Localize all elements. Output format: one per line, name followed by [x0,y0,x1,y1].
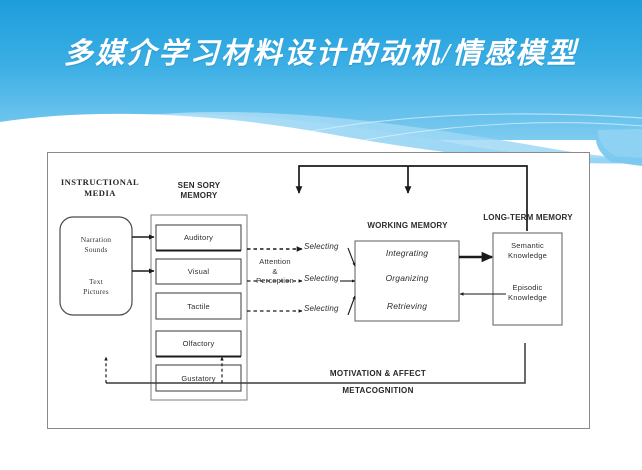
page-title: 多媒介学习材料设计的动机/情感模型 [0,30,642,72]
heading-sensory-memory: SEN SORY MEMORY [154,181,244,201]
working-memory-item-organizing: Organizing [358,273,456,283]
media-item-text-pictures: Text Pictures [62,277,130,297]
heading-instructional-media: INSTRUCTIONAL MEDIA [54,177,146,199]
heading-long-term-memory: LONG-TERM MEMORY [472,213,584,223]
media-item-narration-sounds-line2: Sounds [84,245,107,254]
heading-working-memory: WORKING MEMORY [350,221,465,231]
heading-instructional-media-line1: INSTRUCTIONAL [61,177,139,187]
ltm-item-semantic-knowledge: Semantic Knowledge [494,241,561,261]
sensory-item-tactile: Tactile [156,302,241,311]
ltm-item-semantic-knowledge-line2: Knowledge [508,251,547,260]
label-selecting-3: Selecting [304,304,350,313]
slide-canvas: 多媒介学习材料设计的动机/情感模型 [0,0,642,470]
label-motivation-affect: MOTIVATION & AFFECT [288,369,468,378]
sensory-item-visual: Visual [156,267,241,276]
slide-header-banner: 多媒介学习材料设计的动机/情感模型 [0,0,642,168]
media-item-narration-sounds-line1: Narration [81,235,112,244]
ltm-item-episodic-knowledge-line1: Episodic [513,283,543,292]
heading-instructional-media-line2: MEDIA [84,188,116,198]
ltm-item-episodic-knowledge: Episodic Knowledge [494,283,561,303]
label-ampersand: & [272,267,277,276]
sensory-item-olfactory: Olfactory [156,339,241,348]
heading-sensory-memory-line2: MEMORY [181,191,218,200]
media-item-narration-sounds: Narration Sounds [62,235,130,255]
label-metacognition: METACOGNITION [288,386,468,395]
heading-sensory-memory-line1: SEN SORY [178,181,221,190]
working-memory-item-integrating: Integrating [358,248,456,258]
banner-background-graphic [0,0,642,168]
media-item-text-pictures-line1: Text [89,277,103,286]
diagram-frame: INSTRUCTIONAL MEDIA SEN SORY MEMORY WORK… [47,152,590,429]
sensory-item-auditory: Auditory [156,233,241,242]
label-perception: Perception [256,276,294,285]
ltm-item-episodic-knowledge-line2: Knowledge [508,293,547,302]
label-attention: Attention [259,257,290,266]
label-selecting-1: Selecting [304,242,350,251]
working-memory-item-retrieving: Retrieving [358,301,456,311]
media-item-text-pictures-line2: Pictures [83,287,109,296]
ltm-item-semantic-knowledge-line1: Semantic [511,241,544,250]
label-attention-perception: Attention & Perception [246,257,304,286]
sensory-item-gustatory: Gustatory [156,374,241,383]
label-selecting-2: Selecting [304,274,350,283]
